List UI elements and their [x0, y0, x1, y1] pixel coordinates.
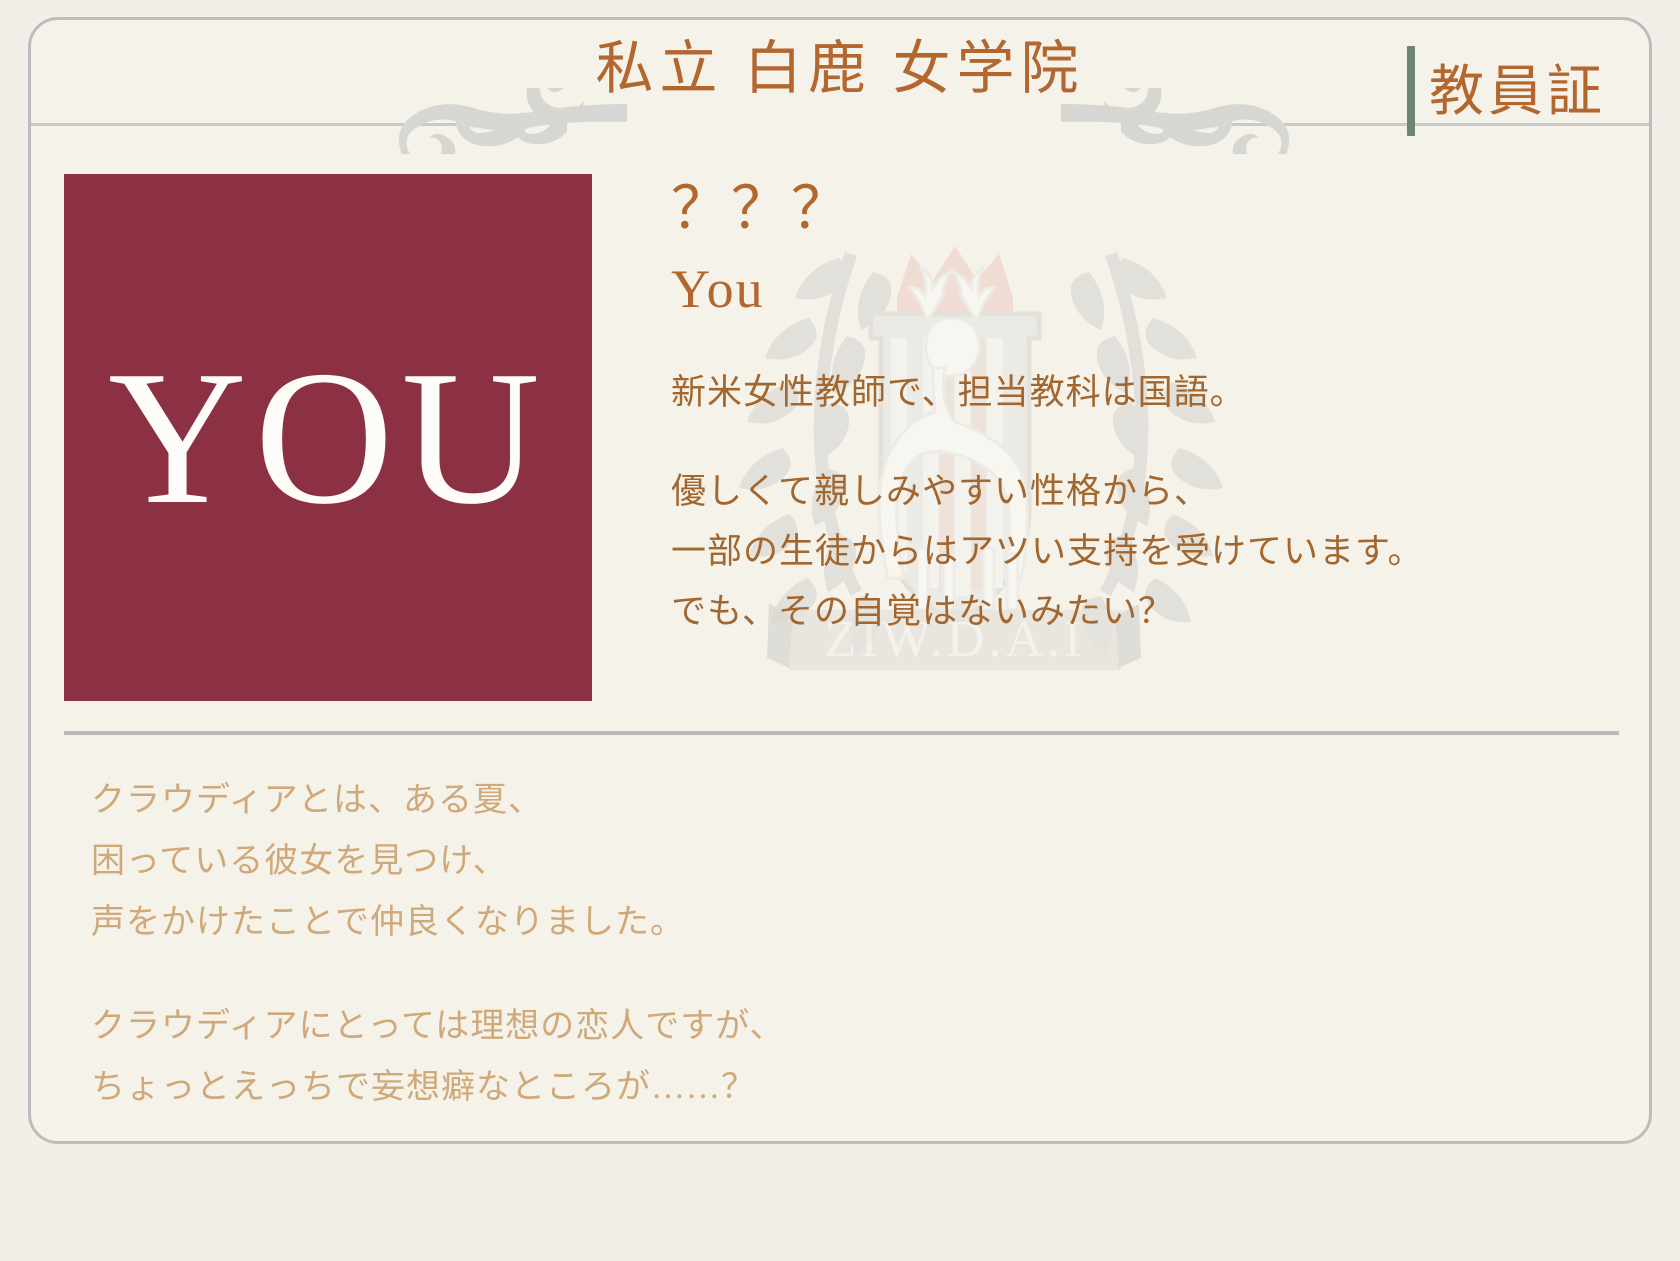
- faculty-badge: 教員証: [1407, 46, 1606, 136]
- bio-line: クラウディアにとっては理想の恋人ですが、: [91, 996, 1571, 1057]
- badge-label: 教員証: [1429, 64, 1606, 119]
- section-divider: [64, 731, 1619, 735]
- bio-line: 声をかけたことで仲良くなりました。: [91, 892, 1571, 953]
- card-header: 私立 白鹿 女学院 教員証: [31, 20, 1649, 150]
- profile-desc-line: 一部の生徒からはアツい支持を受けています。: [671, 522, 1611, 582]
- ornament-flourish-left-icon: [399, 88, 629, 154]
- bio-line: クラウディアとは、ある夏、: [91, 770, 1571, 831]
- portrait-photo: YOU: [64, 174, 592, 701]
- bio-line: ちょっとえっちで妄想癖なところが……？: [91, 1057, 1571, 1118]
- character-name-romaji: You: [671, 257, 1611, 322]
- profile-desc-line: 新米女性教師で、担当教科は国語。: [671, 363, 1611, 423]
- profile-description: 新米女性教師で、担当教科は国語。 優しくて親しみやすい性格から、 一部の生徒から…: [671, 363, 1611, 642]
- profile-desc-line: でも、その自覚はないみたい？: [671, 582, 1611, 642]
- ornament-flourish-right-icon: [1059, 88, 1289, 154]
- profile-desc-gap: [671, 424, 1611, 462]
- bio-line: 困っている彼女を見つけ、: [91, 831, 1571, 892]
- profile-desc-line: 優しくて親しみやすい性格から、: [671, 462, 1611, 522]
- character-name-unknown: ？？？: [671, 176, 1611, 243]
- bio-block: クラウディアとは、ある夏、 困っている彼女を見つけ、 声をかけたことで仲良くなり…: [91, 770, 1571, 1118]
- faculty-id-card: ZIW.D.A.I: [28, 17, 1652, 1144]
- bio-gap: [91, 954, 1571, 996]
- badge-accent-bar: [1407, 46, 1415, 136]
- portrait-initials: YOU: [108, 342, 548, 534]
- profile-block: ？？？ You 新米女性教師で、担当教科は国語。 優しくて親しみやすい性格から、…: [671, 176, 1611, 642]
